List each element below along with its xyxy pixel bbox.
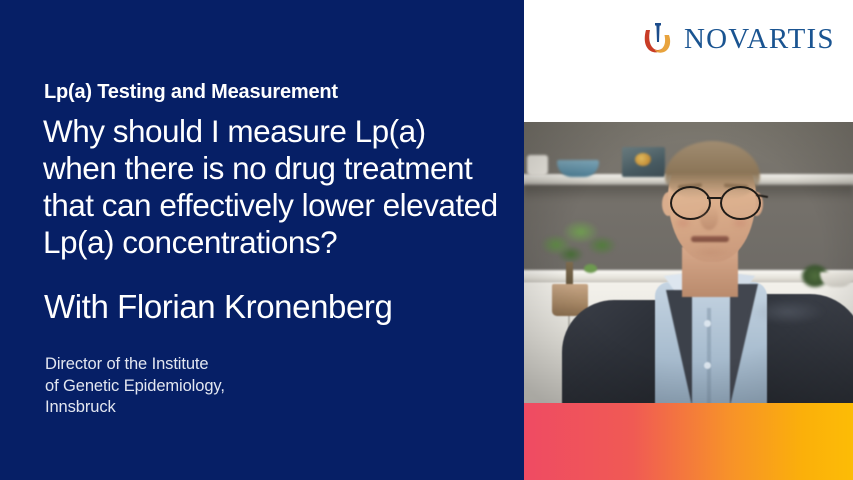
speaker-name: With Florian Kronenberg [44, 288, 392, 326]
brand-gradient-strip [524, 403, 853, 480]
panel-gutter [519, 0, 524, 480]
question-headline: Why should I measure Lp(a) when there is… [43, 113, 523, 261]
video-vignette [524, 122, 853, 403]
question-line-1: Why should I measure Lp(a) [43, 113, 523, 150]
question-line-2: when there is no drug treatment [43, 150, 523, 187]
video-title-card: Lp(a) Testing and Measurement Why should… [0, 0, 853, 480]
novartis-logo: NOVARTIS [643, 22, 835, 56]
affiliation-line-2: of Genetic Epidemiology, [45, 376, 225, 398]
affiliation-line-1: Director of the Institute [45, 354, 225, 376]
question-line-3: that can effectively lower elevated [43, 187, 523, 224]
novartis-wordmark: NOVARTIS [684, 25, 835, 54]
video-scene [524, 122, 853, 403]
series-eyebrow-label: Lp(a) Testing and Measurement [44, 81, 338, 104]
brand-logo-band: NOVARTIS [524, 0, 853, 122]
affiliation-line-3: Innsbruck [45, 397, 225, 419]
interview-video-still[interactable] [524, 122, 853, 403]
question-line-4: Lp(a) concentrations? [43, 224, 523, 261]
speaker-affiliation: Director of the Institute of Genetic Epi… [45, 354, 225, 419]
novartis-flame-logo-icon [643, 22, 673, 56]
